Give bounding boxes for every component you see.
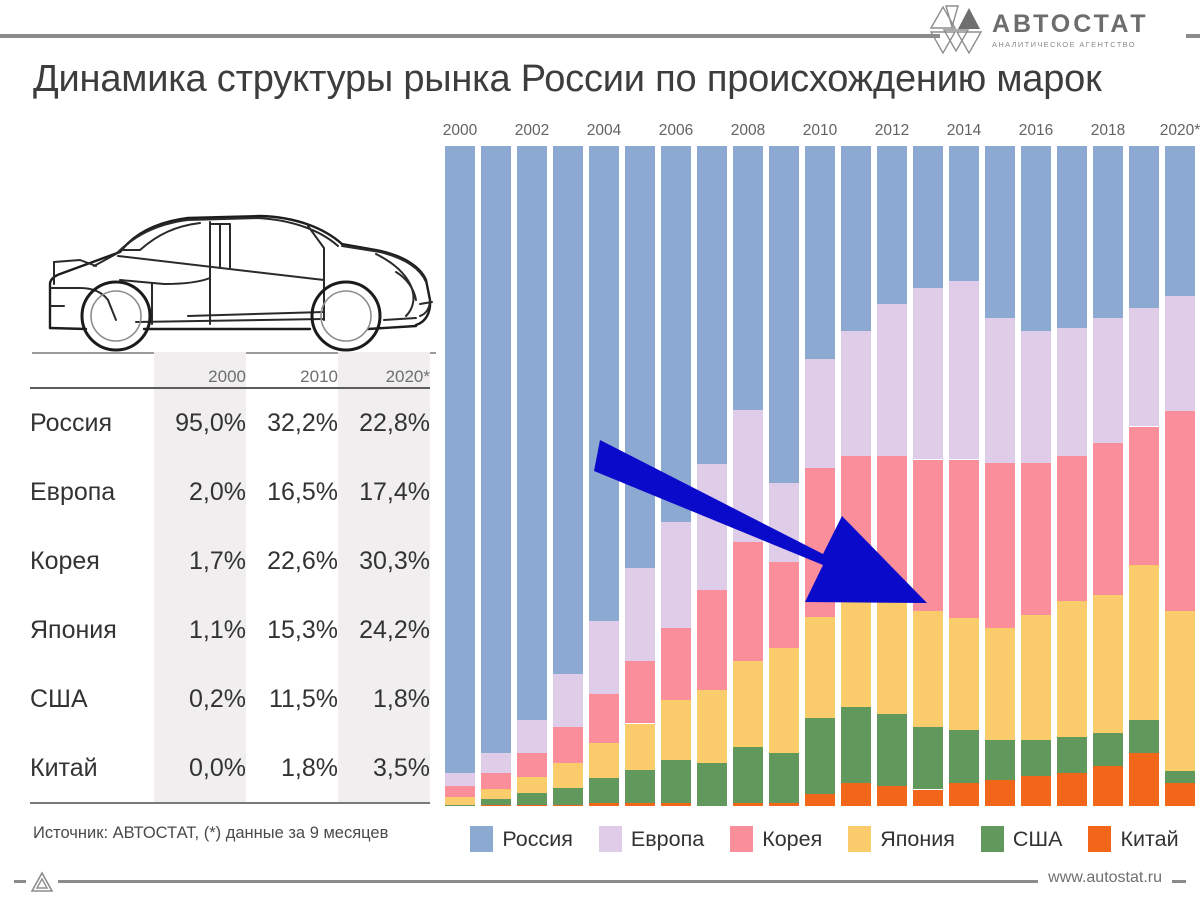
bar-segment-сша [805, 718, 835, 794]
bar-segment-россия [1057, 146, 1087, 328]
row-label-china: Китай [30, 734, 154, 803]
footer-rule [14, 880, 1186, 883]
bar-segment-россия [841, 146, 871, 331]
bar-segment-корея [445, 786, 475, 797]
bar-segment-сша [1165, 771, 1195, 783]
bar-segment-япония [445, 797, 475, 804]
legend-item-россия[interactable]: Россия [470, 826, 573, 852]
bar-segment-китай [1057, 773, 1087, 806]
bar-segment-корея [733, 542, 763, 661]
bar-segment-европа [1165, 296, 1195, 411]
bar-segment-китай [985, 780, 1015, 806]
chart-bar [949, 146, 979, 806]
cell-china-2000: 0,0% [154, 734, 246, 803]
bar-segment-сша [1021, 740, 1051, 776]
row-label-europe: Европа [30, 458, 154, 527]
chart-bar [1165, 146, 1195, 806]
bar-segment-россия [697, 146, 727, 464]
bar-segment-корея [949, 460, 979, 618]
bar-segment-япония [769, 648, 799, 754]
logo-subtitle: АНАЛИТИЧЕСКОЕ АГЕНТСТВО [992, 40, 1148, 49]
data-table-wrapper: 2000 2010 2020* Россия 95,0% 32,2% 22,8%… [30, 352, 430, 812]
bar-segment-корея [661, 628, 691, 701]
bar-segment-россия [625, 146, 655, 568]
bar-segment-европа [517, 720, 547, 753]
bar-segment-китай [841, 783, 871, 806]
bar-segment-россия [553, 146, 583, 674]
bar-segment-китай [733, 803, 763, 806]
row-label-korea: Корея [30, 527, 154, 596]
bar-segment-китай [1165, 783, 1195, 806]
bar-segment-китай [877, 786, 907, 806]
legend-label: Корея [762, 827, 822, 852]
bar-segment-китай [1021, 776, 1051, 806]
bar-segment-сша [1129, 720, 1159, 753]
year-tick-label: 2006 [659, 122, 693, 140]
bar-segment-китай [553, 805, 583, 806]
cell-europe-2000: 2,0% [154, 458, 246, 527]
bar-segment-европа [949, 281, 979, 459]
bar-segment-китай [589, 803, 619, 806]
bar-segment-европа [913, 288, 943, 460]
bar-segment-европа [625, 568, 655, 660]
footer-url: www.autostat.ru [1038, 869, 1172, 887]
bar-segment-корея [517, 753, 547, 777]
bar-segment-россия [805, 146, 835, 359]
cell-europe-2010: 16,5% [246, 458, 338, 527]
row-label-usa: США [30, 665, 154, 734]
bar-segment-россия [949, 146, 979, 281]
chart-bar [841, 146, 871, 806]
bar-segment-корея [1057, 456, 1087, 601]
bar-segment-европа [661, 522, 691, 628]
year-tick-label: 2014 [947, 122, 981, 140]
bar-segment-япония [949, 618, 979, 730]
year-tick-label: 2002 [515, 122, 549, 140]
legend-swatch-icon [470, 826, 493, 852]
bar-segment-корея [841, 456, 871, 581]
bar-segment-россия [913, 146, 943, 288]
logo-wordmark: АВТОСТАТ АНАЛИТИЧЕСКОЕ АГЕНТСТВО [992, 12, 1148, 49]
row-label-japan: Япония [30, 596, 154, 665]
bar-segment-европа [445, 773, 475, 786]
legend-label: США [1013, 827, 1063, 852]
bar-segment-корея [913, 460, 943, 612]
table-header-2000: 2000 [154, 352, 246, 388]
bar-segment-япония [1021, 615, 1051, 740]
bar-segment-япония [985, 628, 1015, 740]
bar-segment-япония [517, 777, 547, 794]
chart-bar [1093, 146, 1123, 806]
chart-bar [769, 146, 799, 806]
chart-bar [445, 146, 475, 806]
bar-segment-европа [697, 464, 727, 590]
bar-segment-корея [985, 463, 1015, 628]
chart-bar [1129, 146, 1159, 806]
bar-segment-сша [733, 747, 763, 803]
bar-segment-сша [517, 793, 547, 805]
legend-item-сша[interactable]: США [981, 826, 1063, 852]
bar-segment-сша [661, 760, 691, 803]
bar-segment-япония [841, 582, 871, 707]
bar-segment-россия [1129, 146, 1159, 308]
table-header-row: 2000 2010 2020* [30, 352, 430, 388]
table-header-blank [30, 352, 154, 388]
chart-bar [553, 146, 583, 806]
legend-item-япония[interactable]: Япония [848, 826, 955, 852]
chart-bar [985, 146, 1015, 806]
bar-segment-европа [1021, 331, 1051, 463]
table-header-2020: 2020* [338, 352, 430, 388]
bar-segment-китай [1129, 753, 1159, 806]
chart-bar [697, 146, 727, 806]
bar-segment-россия [769, 146, 799, 483]
row-label-russia: Россия [30, 389, 154, 458]
cell-china-2020: 3,5% [338, 734, 430, 803]
bar-segment-япония [697, 690, 727, 763]
bar-segment-европа [877, 304, 907, 456]
bar-segment-корея [481, 773, 511, 789]
legend-item-корея[interactable]: Корея [730, 826, 822, 852]
bar-segment-сша [445, 805, 475, 806]
bar-segment-сша [841, 707, 871, 783]
cell-russia-2020: 22,8% [338, 389, 430, 458]
bar-segment-россия [661, 146, 691, 522]
bar-segment-сша [877, 714, 907, 787]
bar-segment-китай [481, 805, 511, 806]
bar-segment-япония [1057, 601, 1087, 736]
bar-segment-япония [625, 724, 655, 770]
market-share-table: 2000 2010 2020* Россия 95,0% 32,2% 22,8%… [30, 352, 430, 804]
bar-segment-сша [625, 770, 655, 803]
chart-year-axis: 2000200220042006200820102012201420162018… [445, 122, 1195, 146]
legend-label: Европа [631, 827, 704, 852]
bar-segment-европа [1093, 318, 1123, 443]
table-row: Корея 1,7% 22,6% 30,3% [30, 527, 430, 596]
chart-bar [625, 146, 655, 806]
car-illustration-icon [24, 188, 444, 360]
bar-segment-япония [661, 700, 691, 759]
infographic-page: АВТОСТАТ АНАЛИТИЧЕСКОЕ АГЕНТСТВО Динамик… [0, 0, 1200, 900]
page-title: Динамика структуры рынка России по проис… [33, 58, 1183, 101]
legend-label: Россия [502, 827, 573, 852]
bar-segment-россия [985, 146, 1015, 318]
legend-swatch-icon [1088, 826, 1111, 852]
legend-item-китай[interactable]: Китай [1088, 826, 1178, 852]
bar-segment-япония [913, 611, 943, 727]
triangle-logo-icon [26, 866, 58, 898]
chart-bar [877, 146, 907, 806]
bar-segment-европа [1129, 308, 1159, 427]
bar-segment-сша [1057, 737, 1087, 773]
bar-segment-европа [841, 331, 871, 456]
bar-segment-европа [985, 318, 1015, 463]
legend-label: Китай [1120, 827, 1178, 852]
bar-segment-сша [913, 727, 943, 790]
cell-europe-2020: 17,4% [338, 458, 430, 527]
bar-segment-корея [589, 694, 619, 744]
legend-swatch-icon [848, 826, 871, 852]
year-tick-label: 2012 [875, 122, 909, 140]
bar-segment-европа [769, 483, 799, 562]
cell-japan-2020: 24,2% [338, 596, 430, 665]
chart-legend: РоссияЕвропаКореяЯпонияСШАКитай [452, 822, 1197, 856]
bar-segment-китай [517, 805, 547, 806]
chart-bar [1021, 146, 1051, 806]
bar-segment-корея [697, 590, 727, 689]
autostat-logo: АВТОСТАТ АНАЛИТИЧЕСКОЕ АГЕНТСТВО [928, 2, 1188, 58]
logo-name: АВТОСТАТ [992, 12, 1148, 37]
bar-segment-корея [1129, 427, 1159, 566]
year-tick-label: 2004 [587, 122, 621, 140]
table-body: Россия 95,0% 32,2% 22,8% Европа 2,0% 16,… [30, 389, 430, 804]
legend-swatch-icon [981, 826, 1004, 852]
bar-segment-россия [589, 146, 619, 621]
bar-segment-россия [1021, 146, 1051, 331]
bar-segment-япония [805, 617, 835, 718]
table-row: Китай 0,0% 1,8% 3,5% [30, 734, 430, 803]
bar-segment-европа [553, 674, 583, 727]
year-tick-label: 2016 [1019, 122, 1053, 140]
bar-segment-сша [1093, 733, 1123, 766]
cell-japan-2010: 15,3% [246, 596, 338, 665]
bar-segment-китай [1093, 766, 1123, 806]
bar-segment-китай [661, 803, 691, 806]
chart-bar [1057, 146, 1087, 806]
bar-segment-сша [553, 788, 583, 805]
cell-russia-2000: 95,0% [154, 389, 246, 458]
legend-item-европа[interactable]: Европа [599, 826, 704, 852]
bar-segment-россия [1165, 146, 1195, 296]
legend-swatch-icon [599, 826, 622, 852]
header-rule [0, 34, 940, 38]
bar-segment-россия [517, 146, 547, 720]
bar-segment-корея [1165, 411, 1195, 611]
bar-segment-корея [553, 727, 583, 763]
bar-segment-сша [589, 778, 619, 802]
legend-label: Япония [880, 827, 955, 852]
table-row: Россия 95,0% 32,2% 22,8% [30, 389, 430, 458]
bar-segment-сша [697, 763, 727, 806]
bar-segment-россия [481, 146, 511, 753]
chart-bar [733, 146, 763, 806]
table-row: Европа 2,0% 16,5% 17,4% [30, 458, 430, 527]
source-note: Источник: АВТОСТАТ, (*) данные за 9 меся… [33, 824, 388, 843]
bar-segment-россия [1093, 146, 1123, 318]
bar-segment-корея [1093, 443, 1123, 595]
bar-segment-китай [769, 803, 799, 806]
year-tick-label: 2010 [803, 122, 837, 140]
bar-segment-япония [553, 763, 583, 788]
bar-segment-япония [877, 595, 907, 714]
cell-russia-2010: 32,2% [246, 389, 338, 458]
bar-segment-сша [769, 753, 799, 803]
bar-segment-китай [805, 794, 835, 806]
bar-segment-европа [733, 410, 763, 542]
bar-segment-европа [1057, 328, 1087, 457]
bar-segment-россия [445, 146, 475, 773]
bar-segment-европа [805, 359, 835, 468]
bar-segment-япония [1093, 595, 1123, 734]
cell-japan-2000: 1,1% [154, 596, 246, 665]
chart-bar [481, 146, 511, 806]
bar-segment-сша [949, 730, 979, 783]
cell-usa-2010: 11,5% [246, 665, 338, 734]
chart-bar [913, 146, 943, 806]
cell-korea-2000: 1,7% [154, 527, 246, 596]
legend-swatch-icon [730, 826, 753, 852]
chart-bar [589, 146, 619, 806]
bar-segment-япония [1129, 565, 1159, 720]
bar-segment-корея [625, 661, 655, 724]
bar-segment-корея [1021, 463, 1051, 615]
chart-bar [661, 146, 691, 806]
bar-segment-россия [733, 146, 763, 410]
header-rule-right [1186, 34, 1200, 38]
cell-usa-2020: 1,8% [338, 665, 430, 734]
bar-segment-сша [985, 740, 1015, 780]
bar-segment-китай [949, 783, 979, 806]
bar-segment-япония [589, 743, 619, 778]
bar-segment-россия [877, 146, 907, 304]
chart-plot-area [445, 146, 1195, 806]
table-row: Япония 1,1% 15,3% 24,2% [30, 596, 430, 665]
table-row: США 0,2% 11,5% 1,8% [30, 665, 430, 734]
cell-usa-2000: 0,2% [154, 665, 246, 734]
bar-segment-китай [913, 790, 943, 807]
year-tick-label: 2000 [443, 122, 477, 140]
cell-korea-2010: 22,6% [246, 527, 338, 596]
cell-china-2010: 1,8% [246, 734, 338, 803]
year-tick-label: 2008 [731, 122, 765, 140]
bar-segment-европа [589, 621, 619, 694]
bar-segment-япония [733, 661, 763, 747]
bar-segment-европа [481, 753, 511, 773]
cell-korea-2020: 30,3% [338, 527, 430, 596]
table-bottom-rule [30, 803, 430, 804]
hexagon-triangles-icon [928, 4, 984, 56]
year-tick-label: 2020* [1160, 122, 1200, 140]
table-header-2010: 2010 [246, 352, 338, 388]
chart-bar [805, 146, 835, 806]
bar-segment-корея [769, 562, 799, 648]
bar-segment-япония [1165, 611, 1195, 771]
bar-segment-корея [877, 456, 907, 595]
bar-segment-корея [805, 468, 835, 617]
bar-segment-япония [481, 789, 511, 800]
stacked-bar-chart: 2000200220042006200820102012201420162018… [445, 122, 1195, 812]
year-tick-label: 2018 [1091, 122, 1125, 140]
chart-bar [517, 146, 547, 806]
bar-segment-китай [625, 803, 655, 806]
